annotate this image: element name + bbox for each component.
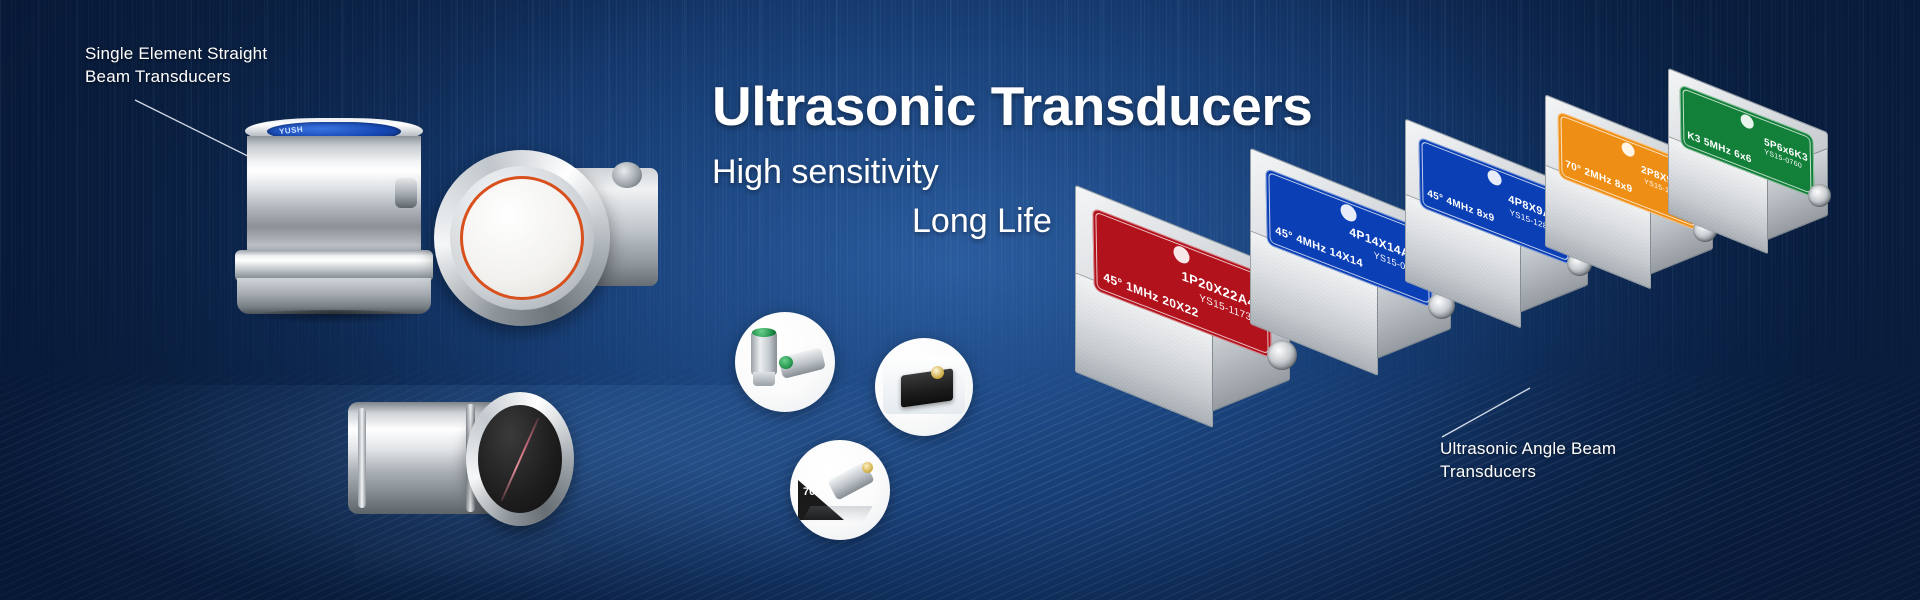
callout-ultrasonic-angle-beam: Ultrasonic Angle Beam Transducers: [1440, 437, 1616, 484]
dark-face-element: [478, 405, 562, 513]
callout-single-element-straight-beam: Single Element Straight Beam Transducers: [85, 42, 267, 89]
upright-shadow: [245, 310, 423, 324]
upright-face-label-text: YUSH: [279, 125, 304, 136]
upright-base: [237, 278, 431, 314]
thumb1-probe-a-knurl: [753, 372, 775, 386]
page-title: Ultrasonic Transducers: [712, 78, 1512, 136]
face-view-ceramic-element: [463, 179, 581, 297]
thumb3-probe-connector: [862, 462, 873, 473]
angle-beam-green-connector: [1808, 184, 1831, 207]
product-dark-face-transducer: [348, 388, 578, 548]
thumb3-reflection: [801, 506, 872, 522]
dark-face-reflection: [354, 520, 564, 580]
dark-face-groove-1: [358, 408, 366, 508]
thumb1-probe-b-green-cap: [779, 356, 793, 369]
thumbnail-black-block-probe[interactable]: [875, 338, 973, 436]
thumb1-probe-a-green-cap: [752, 328, 776, 337]
product-angle-beam-green: 5P6x6K3 YS15-0760 K3 5MHz 6x6: [1668, 100, 1873, 270]
face-view-screw-boss: [612, 162, 642, 188]
thumb2-connector: [931, 366, 944, 379]
dark-face-diagonal-stripe: [501, 417, 540, 501]
product-straight-beam-face-view: [430, 140, 660, 340]
thumbnail-wedge-probe-70[interactable]: 70°: [790, 440, 890, 540]
thumbnail-miniature-probes[interactable]: [735, 312, 835, 412]
banner-root: Single Element Straight Beam Transducers…: [0, 0, 1920, 600]
thumb3-angle-text: 70°: [803, 486, 820, 498]
product-straight-beam-upright: YUSH: [235, 118, 435, 328]
upright-side-boss: [395, 178, 417, 208]
